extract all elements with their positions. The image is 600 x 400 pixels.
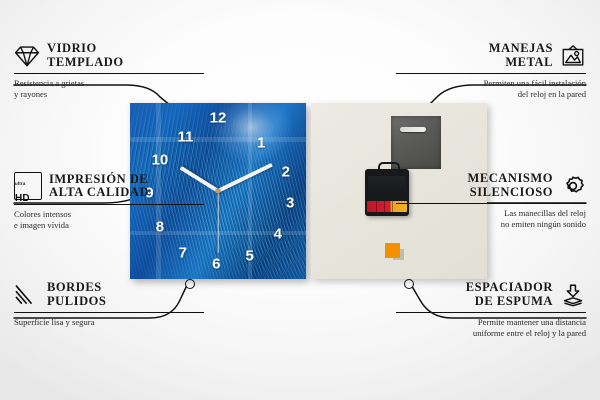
feature-bordes-pulidos: BORDES PULIDOS Superficie lisa y segura	[14, 281, 204, 328]
foam-spacer-pad	[385, 243, 400, 258]
clock-number-5: 5	[246, 249, 254, 264]
feature-title: VIDRIO TEMPLADO	[47, 42, 124, 69]
feature-espaciador-de-espuma: ESPACIADOR DE ESPUMA Permite mantener un…	[396, 281, 586, 339]
metal-hanger-plate	[391, 116, 441, 169]
clock-number-1: 1	[257, 135, 265, 150]
feature-title: MECANISMO SILENCIOSO	[467, 172, 553, 199]
feature-description: Superficie lisa y segura	[14, 317, 204, 328]
feature-description: Colores intensos e imagen vívida	[14, 209, 204, 230]
clock-number-6: 6	[212, 257, 220, 272]
picture-frame-hanger-icon	[560, 43, 586, 69]
diagonal-stripes-icon	[14, 282, 40, 308]
press-down-layers-icon	[560, 282, 586, 308]
clock-number-3: 3	[286, 196, 294, 211]
feature-divider	[14, 204, 204, 205]
feature-mecanismo-silencioso: MECANISMO SILENCIOSO Las manecillas del …	[396, 172, 586, 230]
feature-title: BORDES PULIDOS	[47, 281, 106, 308]
feature-divider	[14, 312, 204, 313]
feature-manejas-metal: MANEJAS METAL Permiten una fácil instala…	[396, 42, 586, 100]
feature-description: Las manecillas del reloj no emiten ningú…	[396, 208, 586, 229]
feature-divider	[14, 73, 204, 74]
clock-center-pin	[216, 189, 221, 194]
clock-number-4: 4	[274, 227, 282, 242]
diamond-icon	[14, 43, 40, 69]
feature-divider	[396, 203, 586, 204]
clock-number-11: 11	[178, 130, 194, 145]
feature-title: IMPRESIÓN DE ALTA CALIDAD	[49, 173, 149, 200]
feature-divider	[396, 73, 586, 74]
clock-number-7: 7	[179, 245, 187, 260]
feature-divider	[396, 312, 586, 313]
feature-title: MANEJAS METAL	[489, 42, 553, 69]
feature-description: Resistencia a grietas y rayones	[14, 78, 204, 99]
gear-icon	[560, 173, 586, 199]
feature-vidrio-templado: VIDRIO TEMPLADO Resistencia a grietas y …	[14, 42, 204, 100]
feature-description: Permite mantener una distancia uniforme …	[396, 317, 586, 338]
feature-impresion-alta-calidad: ultra HD IMPRESIÓN DE ALTA CALIDAD Color…	[14, 172, 204, 231]
ultra-hd-badge-icon: ultra HD	[14, 172, 42, 200]
infographic-canvas: 12 1 2 3 4 5 6 7 8 9 10 11	[0, 0, 600, 400]
feature-title: ESPACIADOR DE ESPUMA	[466, 281, 553, 308]
clock-number-2: 2	[282, 164, 290, 179]
clock-number-10: 10	[152, 153, 169, 168]
clock-number-12: 12	[210, 111, 227, 126]
feature-description: Permiten una fácil instalación del reloj…	[396, 78, 586, 99]
hanger-keyhole-slot	[400, 127, 426, 132]
clock-second-hand	[217, 191, 218, 253]
